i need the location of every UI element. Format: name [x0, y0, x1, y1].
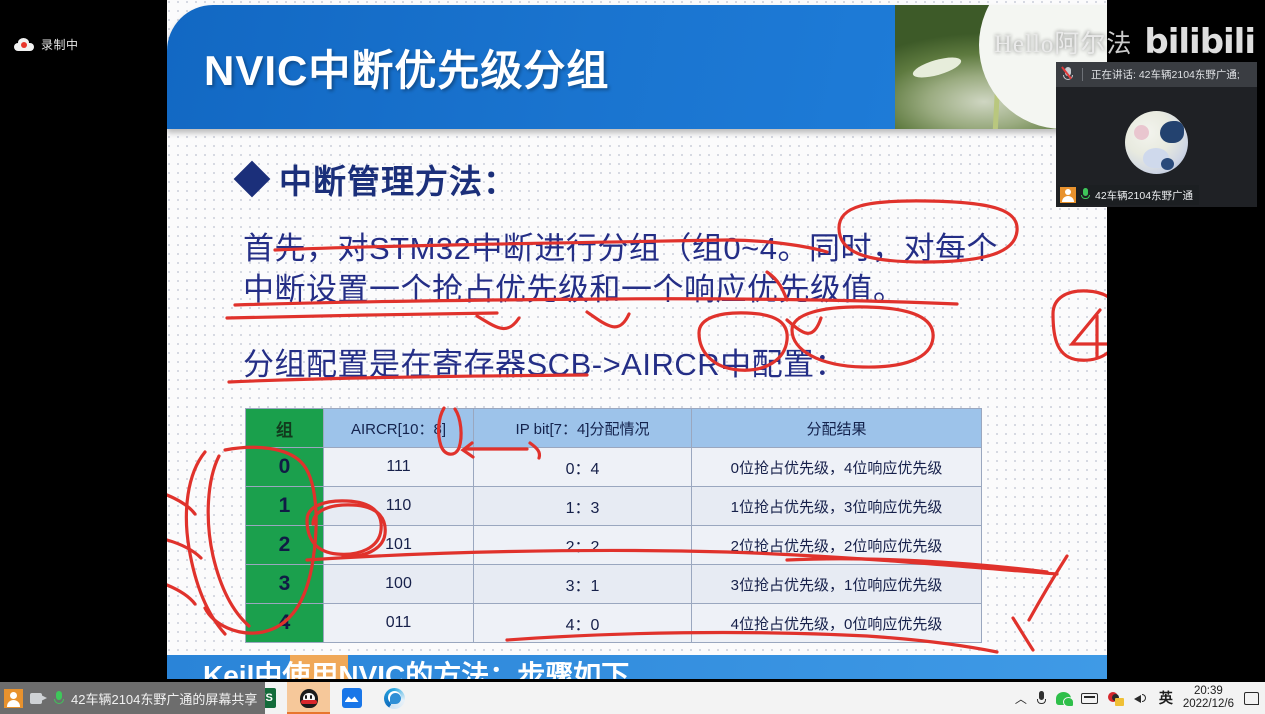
slide-paragraph-1: 首先，对STM32中断进行分组（组0~4。同时，对每个 中断设置一个抢占优先级和… — [243, 228, 998, 310]
cell-aircr: 110 — [324, 487, 474, 526]
taskbar-item-tencent-meeting[interactable] — [330, 682, 373, 714]
share-mic-icon[interactable] — [54, 691, 64, 706]
security-icon[interactable] — [1108, 691, 1124, 706]
participant-name: 42车辆2104东野广通 — [1095, 188, 1193, 203]
cell-aircr: 011 — [324, 604, 474, 643]
bullet-heading-text: 中断管理方法： — [279, 155, 517, 203]
chevron-up-icon[interactable]: ︿ — [1015, 690, 1027, 707]
cell-group: 4 — [246, 604, 324, 643]
taskbar-item-qq[interactable] — [287, 682, 330, 714]
cell-ipbit: 4：0 — [474, 604, 692, 643]
watermark-author: Hello阿尔法 — [994, 24, 1133, 60]
cell-result: 0位抢占优先级，4位响应优先级 — [692, 448, 982, 487]
cell-group: 3 — [246, 565, 324, 604]
screen-root: 录制中 NVIC中断优先级分组 中断管理方法： 首先，对STM32中断进行分组（… — [0, 0, 1265, 714]
cell-ipbit: 3：1 — [474, 565, 692, 604]
edge-browser-icon — [384, 688, 405, 709]
cell-result: 2位抢占优先级，2位响应优先级 — [692, 526, 982, 565]
notification-center-icon[interactable] — [1244, 692, 1259, 705]
share-overlay-label: 42车辆2104东野广通的屏幕共享 — [71, 689, 257, 708]
cell-ipbit: 2：2 — [474, 526, 692, 565]
cloud-record-icon — [14, 39, 34, 51]
bilibili-watermark: Hello阿尔法 bilibili — [994, 22, 1255, 62]
cell-group: 1 — [246, 487, 324, 526]
cell-aircr: 100 — [324, 565, 474, 604]
table-row: 0 111 0：4 0位抢占优先级，4位响应优先级 — [246, 448, 982, 487]
presentation-slide: NVIC中断优先级分组 中断管理方法： 首先，对STM32中断进行分组（组0~4… — [167, 0, 1107, 679]
clock[interactable]: 20:39 2022/12/6 — [1183, 685, 1234, 711]
watermark-brand: bilibili — [1144, 22, 1255, 62]
cell-aircr: 101 — [324, 526, 474, 565]
video-feed[interactable]: 42车辆2104东野广通 — [1056, 87, 1257, 207]
table-header-aircr: AIRCR[10：8] — [324, 409, 474, 448]
table-header-result: 分配结果 — [692, 409, 982, 448]
table-header-group: 组 — [246, 409, 324, 448]
table-row: 3 100 3：1 3位抢占优先级，1位响应优先级 — [246, 565, 982, 604]
wechat-icon[interactable] — [1056, 692, 1071, 705]
tencent-meeting-icon — [342, 688, 362, 708]
camera-icon[interactable] — [30, 692, 47, 705]
recording-label: 录制中 — [41, 36, 79, 53]
input-panel-icon[interactable] — [1081, 693, 1098, 704]
cell-result: 4位抢占优先级，0位响应优先级 — [692, 604, 982, 643]
cell-result: 3位抢占优先级，1位响应优先级 — [692, 565, 982, 604]
recording-indicator: 录制中 — [14, 36, 79, 53]
cell-aircr: 111 — [324, 448, 474, 487]
cell-group: 2 — [246, 526, 324, 565]
shared-screen-area: NVIC中断优先级分组 中断管理方法： 首先，对STM32中断进行分组（组0~4… — [167, 0, 1107, 679]
microphone-icon[interactable] — [1037, 691, 1046, 706]
diamond-bullet-icon — [234, 161, 271, 198]
table-row: 4 011 4：0 4位抢占优先级，0位响应优先级 — [246, 604, 982, 643]
clock-time: 20:39 — [1183, 685, 1234, 698]
paragraph-line-2: 中断设置一个抢占优先级和一个响应优先级值。 — [243, 269, 998, 310]
speaking-status-bar: 正在讲话: 42车辆2104东野广通; — [1056, 62, 1257, 87]
cell-ipbit: 0：4 — [474, 448, 692, 487]
screen-share-overlay[interactable]: 42车辆2104东野广通的屏幕共享 — [0, 682, 265, 714]
slide-paragraph-2: 分组配置是在寄存器SCB->AIRCR中配置： — [243, 344, 846, 385]
table-row: 1 110 1：3 1位抢占优先级，3位响应优先级 — [246, 487, 982, 526]
muted-mic-icon[interactable] — [1063, 67, 1074, 82]
system-tray: ︿ 英 20:39 2022/12/6 — [1015, 682, 1265, 714]
qq-icon — [299, 687, 319, 709]
divider — [1082, 68, 1083, 81]
paragraph-line-1: 首先，对STM32中断进行分组（组0~4。同时，对每个 — [243, 228, 998, 269]
video-thumbnail-panel[interactable]: 正在讲话: 42车辆2104东野广通; 42车辆2104东野广通 — [1056, 62, 1257, 207]
participant-footer: 42车辆2104东野广通 — [1058, 185, 1199, 205]
cell-ipbit: 1：3 — [474, 487, 692, 526]
ime-indicator[interactable]: 英 — [1159, 688, 1173, 708]
table-header-ipbit: IP bit[7：4]分配情况 — [474, 409, 692, 448]
cell-result: 1位抢占优先级，3位响应优先级 — [692, 487, 982, 526]
speaking-label: 正在讲话: 42车辆2104东野广通; — [1091, 67, 1240, 82]
participant-badge-icon — [1060, 187, 1076, 203]
share-user-icon — [4, 689, 23, 708]
priority-group-table: 组 AIRCR[10：8] IP bit[7：4]分配情况 分配结果 0 111… — [245, 408, 982, 643]
avatar — [1125, 111, 1188, 174]
table-header-row: 组 AIRCR[10：8] IP bit[7：4]分配情况 分配结果 — [246, 409, 982, 448]
table-row: 2 101 2：2 2位抢占优先级，2位响应优先级 — [246, 526, 982, 565]
slide-bottom-bar: Keil中使用NVIC的方法：步骤如下 — [167, 655, 1107, 679]
clock-date: 2022/12/6 — [1183, 698, 1234, 711]
bottom-bar-text: Keil中使用NVIC的方法：步骤如下 — [203, 655, 629, 679]
taskbar-item-edge[interactable] — [373, 682, 416, 714]
slide-title: NVIC中断优先级分组 — [204, 37, 609, 98]
active-mic-icon — [1081, 188, 1090, 202]
volume-icon[interactable] — [1134, 692, 1149, 705]
bullet-heading: 中断管理方法： — [239, 155, 517, 203]
cell-group: 0 — [246, 448, 324, 487]
